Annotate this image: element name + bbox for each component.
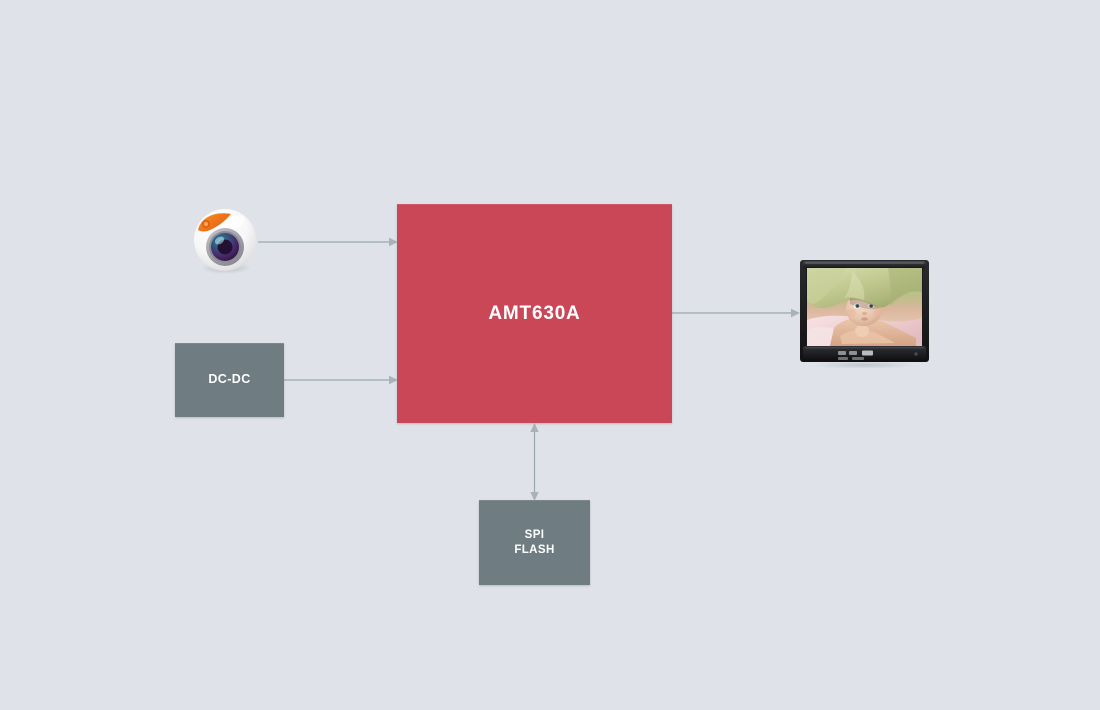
arrowhead-up: [530, 423, 538, 432]
photo-baby-nose: [862, 312, 867, 315]
photo-baby-hand: [855, 325, 869, 337]
arrowhead-right: [791, 309, 800, 317]
monitor-button-5[interactable]: [852, 357, 864, 360]
camera-icon[interactable]: [190, 206, 260, 276]
block-spi-flash[interactable]: SPI FLASH: [479, 500, 590, 585]
monitor-top-gloss: [805, 262, 924, 264]
monitor-button-4[interactable]: [838, 357, 848, 360]
connector-soc-to-monitor: [672, 307, 802, 319]
connector-soc-to-spi-flash: [528, 423, 541, 501]
block-amt630a[interactable]: AMT630A: [397, 204, 672, 423]
block-amt630a-label: AMT630A: [488, 302, 580, 326]
photo-baby-mouth: [861, 317, 868, 320]
monitor-screen-image: [800, 268, 922, 349]
connector-dcdc-to-soc: [284, 374, 400, 386]
photo-baby-cheek-right: [873, 309, 883, 317]
block-spi-flash-label: SPI FLASH: [514, 528, 554, 557]
lcd-monitor-icon[interactable]: [800, 258, 929, 368]
monitor-power-led: [914, 352, 917, 355]
camera-swoosh-dot-inner: [204, 222, 208, 226]
connector-camera-to-soc: [258, 236, 400, 248]
monitor-shadow: [812, 361, 916, 368]
monitor-button-1[interactable]: [838, 351, 846, 355]
block-dc-dc[interactable]: DC-DC: [175, 343, 284, 417]
photo-baby-cheek-left: [846, 309, 856, 317]
diagram-canvas: AMT630A DC-DC SPI FLASH: [0, 0, 1100, 710]
monitor-button-3[interactable]: [862, 351, 873, 356]
monitor-bottom-gloss: [805, 347, 924, 349]
monitor-button-2[interactable]: [849, 351, 857, 355]
block-dc-dc-label: DC-DC: [208, 372, 250, 388]
